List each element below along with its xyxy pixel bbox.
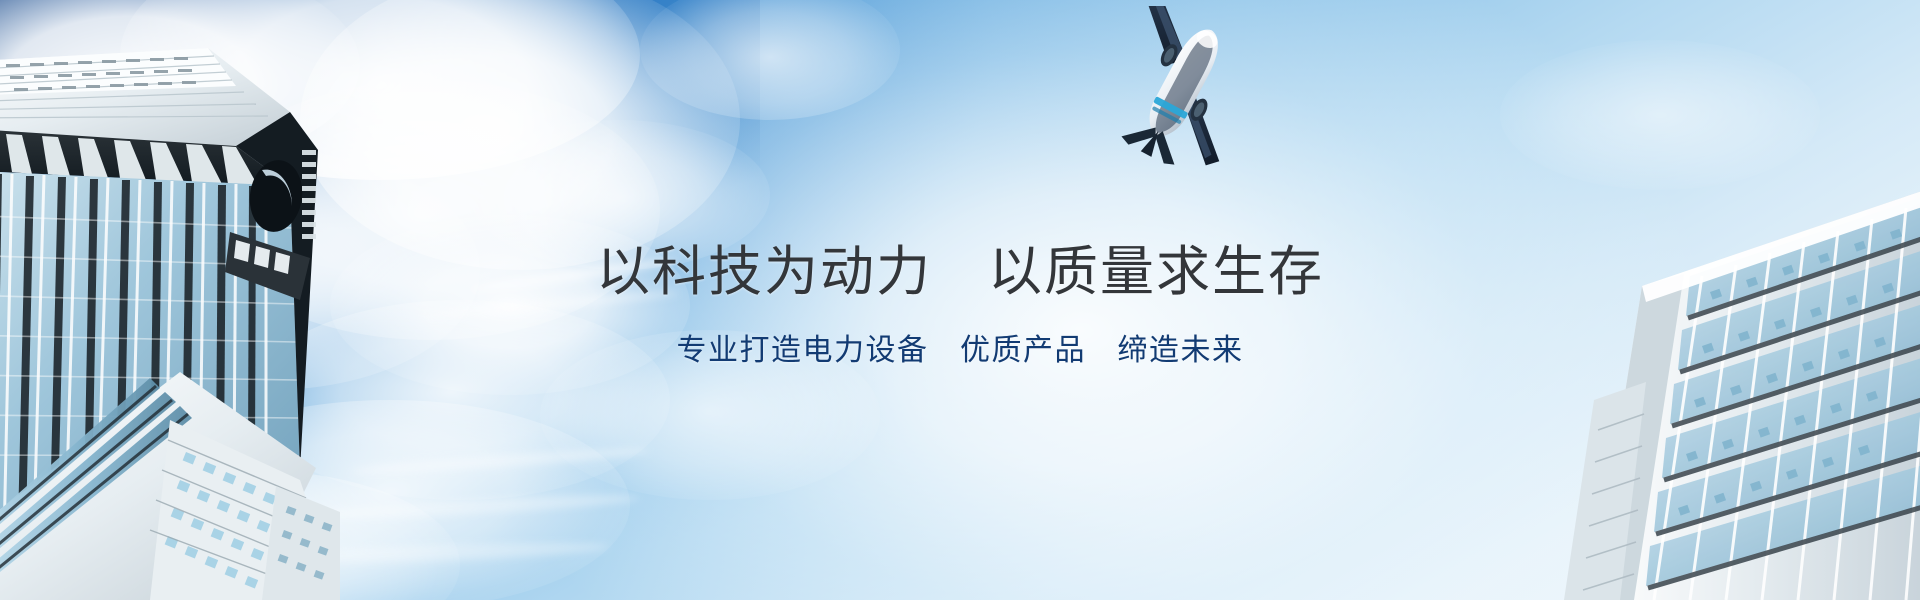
- airplane-icon: [1090, 6, 1270, 166]
- hero-banner: 以科技为动力 以质量求生存 专业打造电力设备 优质产品 缔造未来: [0, 0, 1920, 600]
- banner-subline: 专业打造电力设备 优质产品 缔造未来: [0, 334, 1920, 367]
- skyscraper-right-svg: [1550, 150, 1920, 600]
- skyscrapers-right: [1550, 150, 1920, 600]
- banner-headline: 以科技为动力 以质量求生存: [0, 243, 1920, 301]
- banner-text-block: 以科技为动力 以质量求生存 专业打造电力设备 优质产品 缔造未来: [0, 243, 1920, 367]
